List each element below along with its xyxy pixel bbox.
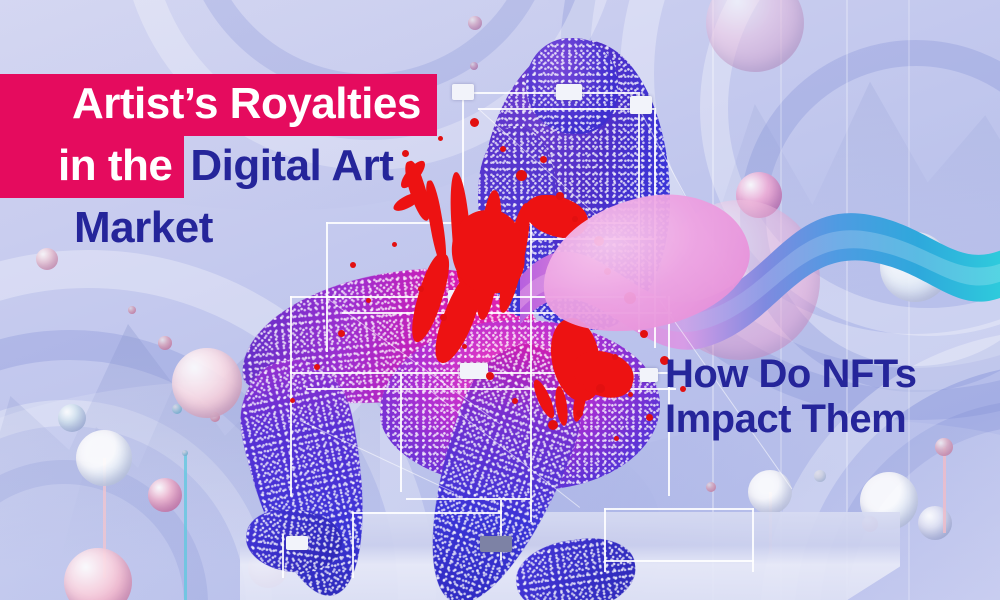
paint-droplet-19 xyxy=(486,372,494,380)
splash-finger-1 xyxy=(530,377,558,420)
paint-droplet-18 xyxy=(512,398,518,404)
headline-line-3: Market xyxy=(0,198,437,260)
subheadline-block: How Do NFTs Impact Them xyxy=(665,352,917,442)
paint-droplet-23 xyxy=(366,298,371,303)
subheadline-line-1: How Do NFTs xyxy=(665,352,917,397)
paint-droplet-16 xyxy=(576,410,583,417)
paint-droplet-22 xyxy=(418,286,424,292)
headline-plain-2: Digital Art xyxy=(184,136,397,198)
paint-droplet-6 xyxy=(540,156,547,163)
paint-droplet-25 xyxy=(314,364,320,370)
subheadline-line-2: Impact Them xyxy=(665,397,917,442)
paint-droplet-20 xyxy=(462,344,467,349)
paint-droplet-24 xyxy=(338,330,345,337)
paint-droplet-3 xyxy=(470,118,479,127)
headline-line-2: in the Digital Art xyxy=(0,136,437,198)
paint-droplet-13 xyxy=(612,354,618,360)
headline-highlight-1: Artist’s Royalties xyxy=(0,74,437,136)
digital-art-banner: Artist’s Royalties in the Digital Art Ma… xyxy=(0,0,1000,600)
paint-droplet-17 xyxy=(548,420,558,430)
paint-droplet-31 xyxy=(350,262,356,268)
paint-droplet-2 xyxy=(438,136,443,141)
paint-droplet-5 xyxy=(516,170,527,181)
paint-droplet-29 xyxy=(646,414,653,421)
paint-droplet-4 xyxy=(500,146,506,152)
headline-block: Artist’s Royalties in the Digital Art Ma… xyxy=(0,74,437,260)
headline-line-1: Artist’s Royalties xyxy=(0,74,437,136)
paint-droplet-26 xyxy=(290,398,295,403)
paint-droplet-7 xyxy=(556,192,564,200)
headline-plain-3: Market xyxy=(0,198,217,260)
paint-droplet-14 xyxy=(596,384,605,393)
paint-droplet-15 xyxy=(628,392,633,397)
headline-highlight-2: in the xyxy=(0,136,184,198)
paint-droplet-21 xyxy=(440,314,447,321)
paint-droplet-8 xyxy=(572,216,578,222)
paint-droplet-12 xyxy=(640,330,648,338)
paint-droplet-30 xyxy=(614,436,619,441)
